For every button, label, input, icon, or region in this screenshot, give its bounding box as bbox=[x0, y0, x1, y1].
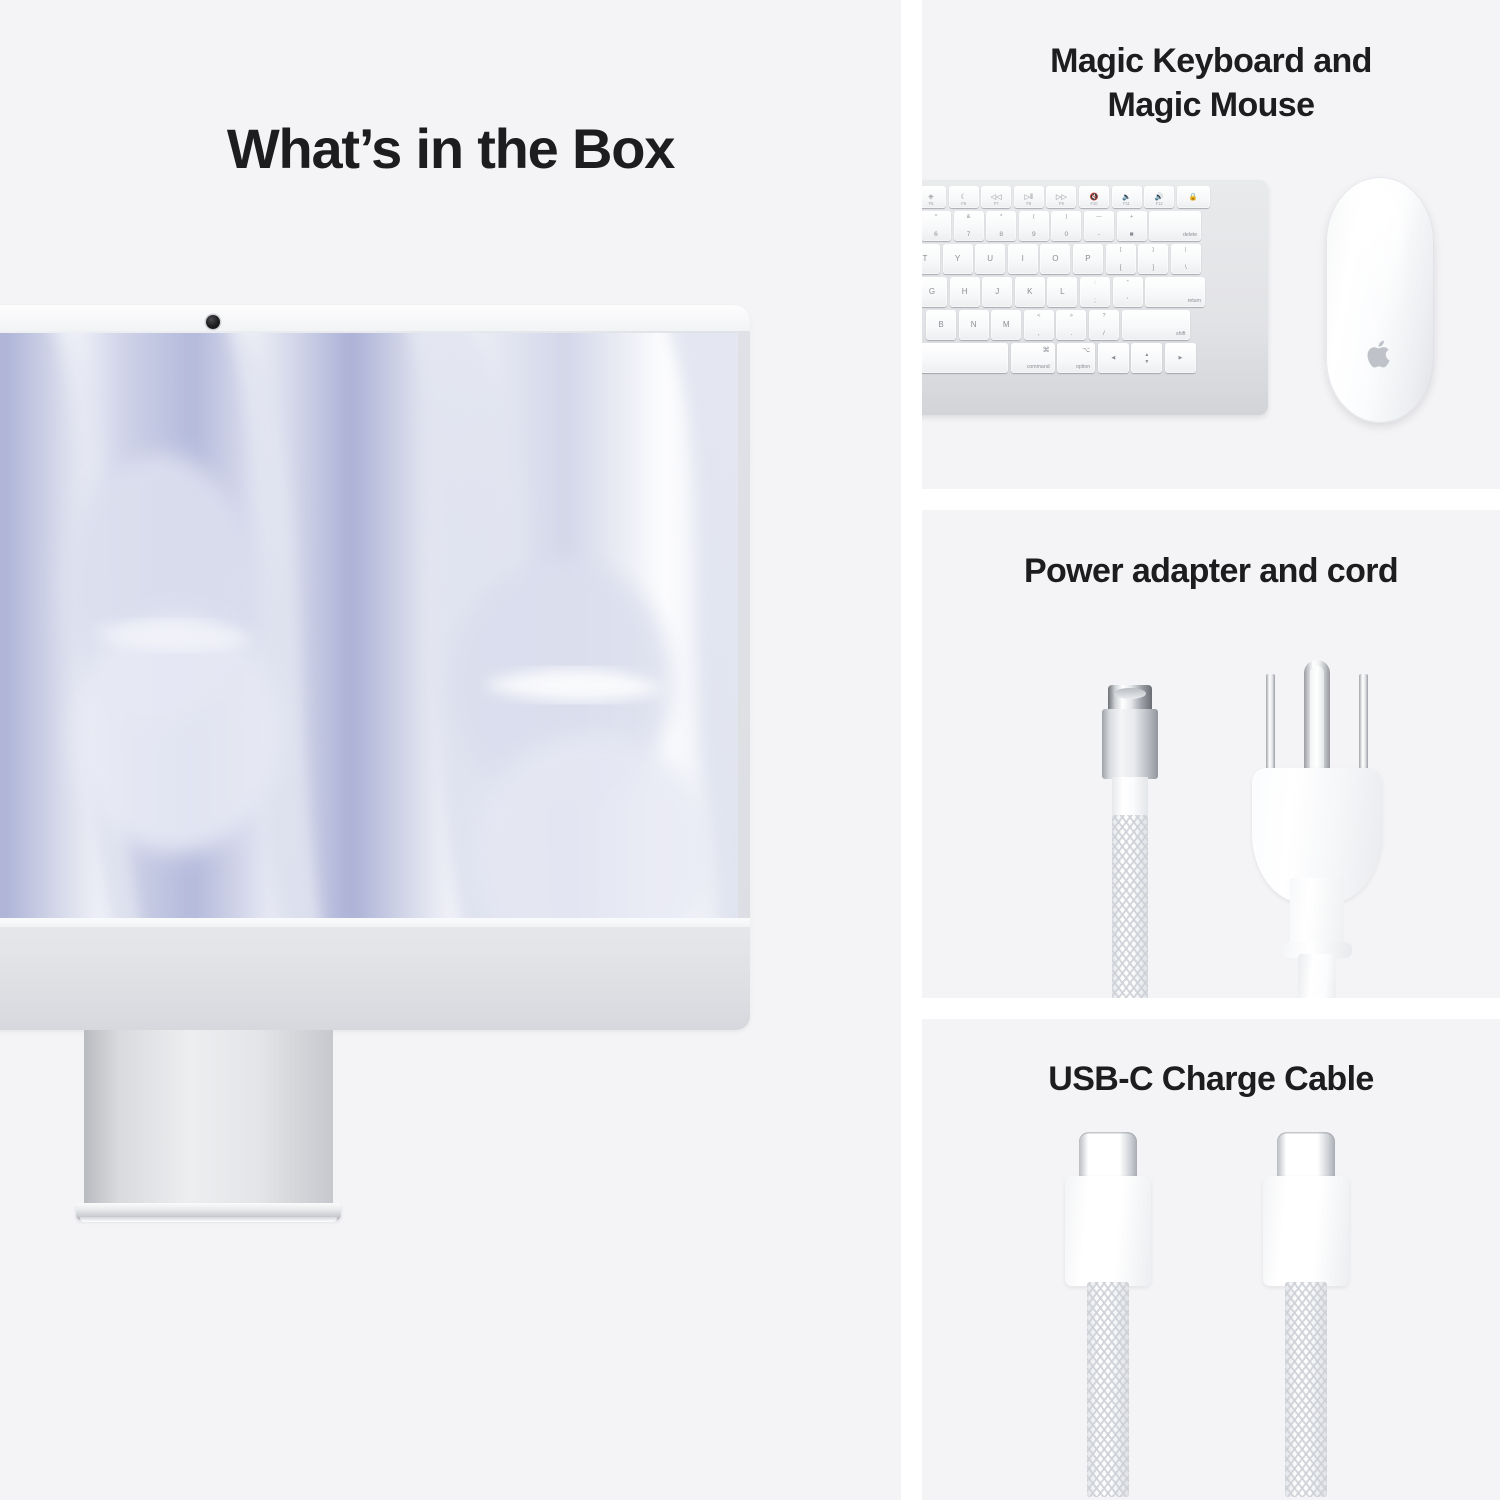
key-quote: "' bbox=[1113, 277, 1143, 307]
microphone-icon: ⎈ bbox=[928, 193, 934, 200]
key-8: *8 bbox=[986, 211, 1016, 241]
braided-cable-right bbox=[1285, 1282, 1327, 1497]
volume-down-icon: 🔈 bbox=[1122, 193, 1131, 200]
keyboard-mouse-title-line2: Magic Mouse bbox=[1108, 86, 1315, 124]
connector-tip-hole bbox=[1114, 688, 1146, 699]
moon-icon: ☾ bbox=[960, 193, 966, 200]
key-m: M bbox=[991, 310, 1021, 340]
key-7: &7 bbox=[954, 211, 984, 241]
key-comma: <, bbox=[1024, 310, 1054, 340]
imac-top-bezel bbox=[0, 305, 750, 331]
key-n: N bbox=[959, 310, 989, 340]
key-arrow-right: ▶ bbox=[1165, 343, 1196, 373]
key-f5: ⎈F5 bbox=[922, 186, 946, 208]
command-icon: ⌘ bbox=[1043, 346, 1050, 354]
power-adapter-panel: Power adapter and cord bbox=[922, 510, 1500, 998]
key-option-right: ⌥option bbox=[1057, 343, 1095, 373]
imac-enclosure bbox=[0, 305, 750, 1030]
volume-up-icon: 🔊 bbox=[1155, 193, 1164, 200]
arrow-left-icon: ◀ bbox=[1111, 355, 1115, 361]
key-return: return bbox=[1145, 277, 1205, 307]
key-space bbox=[922, 343, 1008, 373]
imac-panel: What’s in the Box bbox=[0, 0, 901, 1500]
key-0: )0 bbox=[1051, 211, 1081, 241]
key-h: H bbox=[950, 277, 980, 307]
prong-right bbox=[1359, 674, 1368, 778]
key-shift-right: shift bbox=[1122, 310, 1190, 340]
usb-c-tip-left bbox=[1079, 1132, 1137, 1180]
imac-product-image bbox=[0, 305, 750, 1235]
key-arrow-up-down: ▲ ▼ bbox=[1131, 343, 1162, 373]
mute-icon: 🔇 bbox=[1089, 193, 1098, 200]
page-title: What’s in the Box bbox=[0, 118, 901, 180]
imac-stand-neck bbox=[84, 1030, 333, 1210]
keyboard-mouse-title-line1: Magic Keyboard and bbox=[1050, 42, 1372, 80]
key-g: G bbox=[922, 277, 947, 307]
rewind-icon: ◁◁ bbox=[991, 193, 1002, 200]
key-f8: ▷‖F8 bbox=[1014, 186, 1044, 208]
braided-cable-left bbox=[1087, 1282, 1129, 1497]
magsafe-connector bbox=[1082, 685, 1178, 998]
arrow-up-icon: ▲ bbox=[1144, 352, 1149, 358]
magic-keyboard: ⎈F5 ☾F6 ◁◁F7 ▷‖F8 ▷▷F9 🔇F10 🔈F11 🔊F1 bbox=[922, 180, 1268, 415]
key-f6: ☾F6 bbox=[949, 186, 979, 208]
usb-c-shell-left bbox=[1065, 1176, 1151, 1286]
key-f10: 🔇F10 bbox=[1079, 186, 1109, 208]
usb-c-shell-right bbox=[1263, 1176, 1349, 1286]
option-icon: ⌥ bbox=[1082, 346, 1090, 354]
key-f9: ▷▷F9 bbox=[1046, 186, 1076, 208]
apple-logo-icon bbox=[1367, 339, 1393, 369]
braided-cord bbox=[1112, 815, 1148, 998]
prong-left bbox=[1266, 674, 1275, 778]
imac-stand-foot-lip bbox=[80, 1217, 337, 1222]
imac-chin bbox=[0, 927, 750, 1030]
key-touch-id: 🔒 bbox=[1177, 186, 1210, 208]
play-pause-icon: ▷‖ bbox=[1025, 193, 1034, 200]
key-bracket-left: {[ bbox=[1106, 244, 1136, 274]
whats-in-the-box-layout: What’s in the Box bbox=[0, 0, 1500, 1500]
camera-icon bbox=[206, 315, 220, 329]
arrow-down-icon: ▼ bbox=[1144, 359, 1149, 365]
key-bracket-right: }] bbox=[1138, 244, 1168, 274]
key-period: >. bbox=[1056, 310, 1086, 340]
key-y: Y bbox=[943, 244, 973, 274]
key-i: I bbox=[1008, 244, 1038, 274]
us-power-plug bbox=[1252, 660, 1382, 998]
arrow-right-icon: ▶ bbox=[1179, 355, 1183, 361]
key-command-right: ⌘command bbox=[1011, 343, 1055, 373]
usb-c-cable-title: USB-C Charge Cable bbox=[922, 1058, 1500, 1102]
connector-strain-relief bbox=[1112, 777, 1148, 819]
key-delete: delete bbox=[1149, 211, 1201, 241]
key-slash: ?/ bbox=[1089, 310, 1119, 340]
magic-mouse bbox=[1326, 177, 1434, 423]
key-backslash: |\ bbox=[1171, 244, 1201, 274]
key-f11: 🔈F11 bbox=[1112, 186, 1142, 208]
touch-id-icon: 🔒 bbox=[1189, 193, 1198, 200]
fast-forward-icon: ▷▷ bbox=[1056, 193, 1067, 200]
key-j: J bbox=[982, 277, 1012, 307]
mouse-highlight bbox=[1352, 191, 1406, 341]
key-o: O bbox=[1040, 244, 1070, 274]
key-arrow-left: ◀ bbox=[1098, 343, 1129, 373]
key-6: ^6 bbox=[922, 211, 951, 241]
key-p: P bbox=[1073, 244, 1103, 274]
magic-keyboard-and-mouse-panel: Magic Keyboard and Magic Mouse ⎈F5 ☾F6 ◁… bbox=[922, 0, 1500, 489]
key-l: L bbox=[1047, 277, 1077, 307]
key-k: K bbox=[1015, 277, 1045, 307]
usb-c-tip-right bbox=[1277, 1132, 1335, 1180]
key-b: B bbox=[926, 310, 956, 340]
power-adapter-title: Power adapter and cord bbox=[922, 550, 1500, 594]
keyboard-mouse-title: Magic Keyboard and Magic Mouse bbox=[922, 40, 1500, 127]
key-f7: ◁◁F7 bbox=[981, 186, 1011, 208]
key-minus: —- bbox=[1084, 211, 1114, 241]
usb-c-cable-panel: USB-C Charge Cable bbox=[922, 1019, 1500, 1500]
prong-ground-inner bbox=[1310, 666, 1324, 778]
key-9: (9 bbox=[1019, 211, 1049, 241]
key-equals: +■ bbox=[1117, 211, 1147, 241]
power-cord bbox=[1298, 954, 1336, 998]
connector-barrel bbox=[1102, 709, 1158, 779]
desktop-wallpaper bbox=[0, 333, 738, 918]
key-semicolon: :; bbox=[1080, 277, 1110, 307]
key-u: U bbox=[975, 244, 1005, 274]
key-f12: 🔊F12 bbox=[1144, 186, 1174, 208]
key-t: T bbox=[922, 244, 940, 274]
imac-display bbox=[0, 333, 738, 918]
